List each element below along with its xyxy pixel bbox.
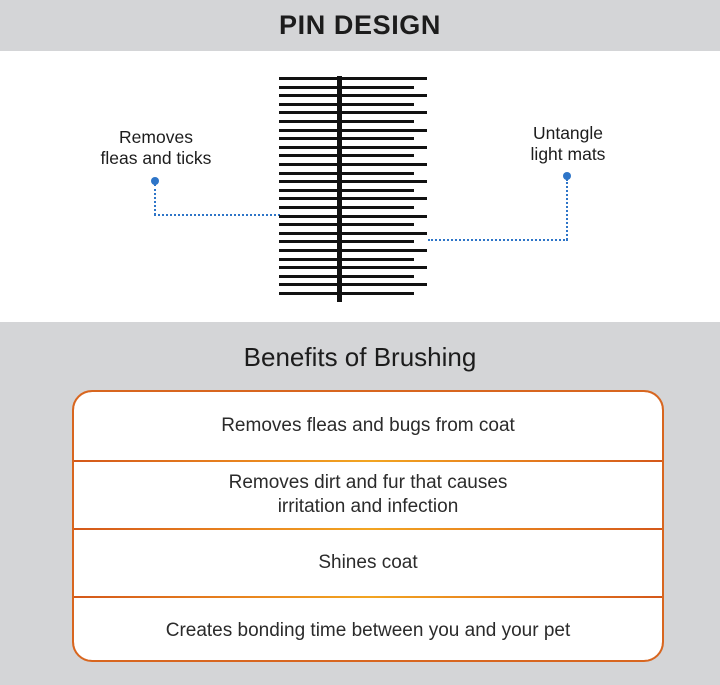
- comb-pin-right: [339, 146, 427, 149]
- benefits-section: Benefits of Brushing Removes fleas and b…: [0, 322, 720, 685]
- benefit-text: Shines coat: [302, 551, 433, 575]
- comb-pin-left: [279, 180, 341, 183]
- comb-pin-right: [339, 154, 414, 157]
- comb-pin-right: [339, 283, 427, 286]
- comb-pin-left: [279, 154, 341, 157]
- comb-pin-right: [339, 197, 427, 200]
- comb-pin-right: [339, 180, 427, 183]
- comb-pin-right: [339, 94, 427, 97]
- comb-pin-left: [279, 94, 341, 97]
- comb-pin-right: [339, 163, 427, 166]
- comb-pin-left: [279, 137, 341, 140]
- infographic-page: PIN DESIGN Removes fleas and ticks Untan…: [0, 0, 720, 685]
- comb-pin-left: [279, 292, 341, 295]
- callout-leader-line-right-vertical: [566, 179, 568, 240]
- comb-pin-right: [339, 266, 427, 269]
- comb-pin-left: [279, 172, 341, 175]
- comb-pin-right: [339, 137, 414, 140]
- benefit-text: Removes fleas and bugs from coat: [205, 414, 531, 438]
- comb-pin-left: [279, 275, 341, 278]
- comb-pin-right: [339, 86, 414, 89]
- comb-pin-left: [279, 215, 341, 218]
- comb-pin-right: [339, 275, 414, 278]
- callout-label-untangle-light-mats: Untangle light mats: [492, 123, 644, 164]
- comb-pin-left: [279, 197, 341, 200]
- comb-pin-right: [339, 223, 414, 226]
- comb-pin-left: [279, 258, 341, 261]
- comb-pin-left: [279, 120, 341, 123]
- callout-leader-line-left-vertical: [154, 184, 156, 215]
- page-title: PIN DESIGN: [279, 12, 441, 39]
- comb-pin-left: [279, 249, 341, 252]
- comb-pin-left: [279, 111, 341, 114]
- comb-pin-right: [339, 77, 427, 80]
- comb-pin-left: [279, 232, 341, 235]
- comb-pin-right: [339, 111, 427, 114]
- comb-pin-left: [279, 206, 341, 209]
- benefits-heading: Benefits of Brushing: [0, 344, 720, 370]
- header-band: PIN DESIGN: [0, 0, 720, 51]
- comb-pin-left: [279, 266, 341, 269]
- comb-pin-right: [339, 103, 414, 106]
- comb-pin-right: [339, 292, 414, 295]
- comb-pin-right: [339, 120, 414, 123]
- comb-pin-left: [279, 283, 341, 286]
- comb-pin-right: [339, 240, 414, 243]
- comb-pin-left: [279, 189, 341, 192]
- comb-pin-right: [339, 258, 414, 261]
- callout-leader-line-right-horizontal: [428, 239, 568, 241]
- comb-pin-right: [339, 249, 427, 252]
- pin-design-section: Removes fleas and ticks Untangle light m…: [0, 51, 720, 322]
- comb-pin-left: [279, 146, 341, 149]
- comb-pin-right: [339, 232, 427, 235]
- callout-leader-line-left-horizontal: [154, 214, 280, 216]
- benefit-text: Creates bonding time between you and you…: [150, 619, 587, 643]
- comb-pin-left: [279, 86, 341, 89]
- comb-pin-right: [339, 206, 414, 209]
- comb-pin-left: [279, 240, 341, 243]
- comb-pin-left: [279, 77, 341, 80]
- comb-pin-right: [339, 215, 427, 218]
- comb-pins-icon: [279, 76, 429, 302]
- benefit-text: Removes dirt and fur that causes irritat…: [213, 471, 524, 519]
- benefit-row: Creates bonding time between you and you…: [74, 596, 662, 662]
- benefit-row: Removes dirt and fur that causes irritat…: [74, 460, 662, 528]
- comb-pin-right: [339, 189, 414, 192]
- benefit-row: Shines coat: [74, 528, 662, 596]
- comb-pin-left: [279, 223, 341, 226]
- comb-pin-left: [279, 103, 341, 106]
- comb-pin-right: [339, 129, 427, 132]
- callout-label-removes-fleas-and-ticks: Removes fleas and ticks: [78, 127, 234, 168]
- comb-pin-left: [279, 129, 341, 132]
- benefit-row: Removes fleas and bugs from coat: [74, 392, 662, 460]
- benefits-list: Removes fleas and bugs from coatRemoves …: [72, 390, 664, 662]
- comb-pin-right: [339, 172, 414, 175]
- comb-pin-left: [279, 163, 341, 166]
